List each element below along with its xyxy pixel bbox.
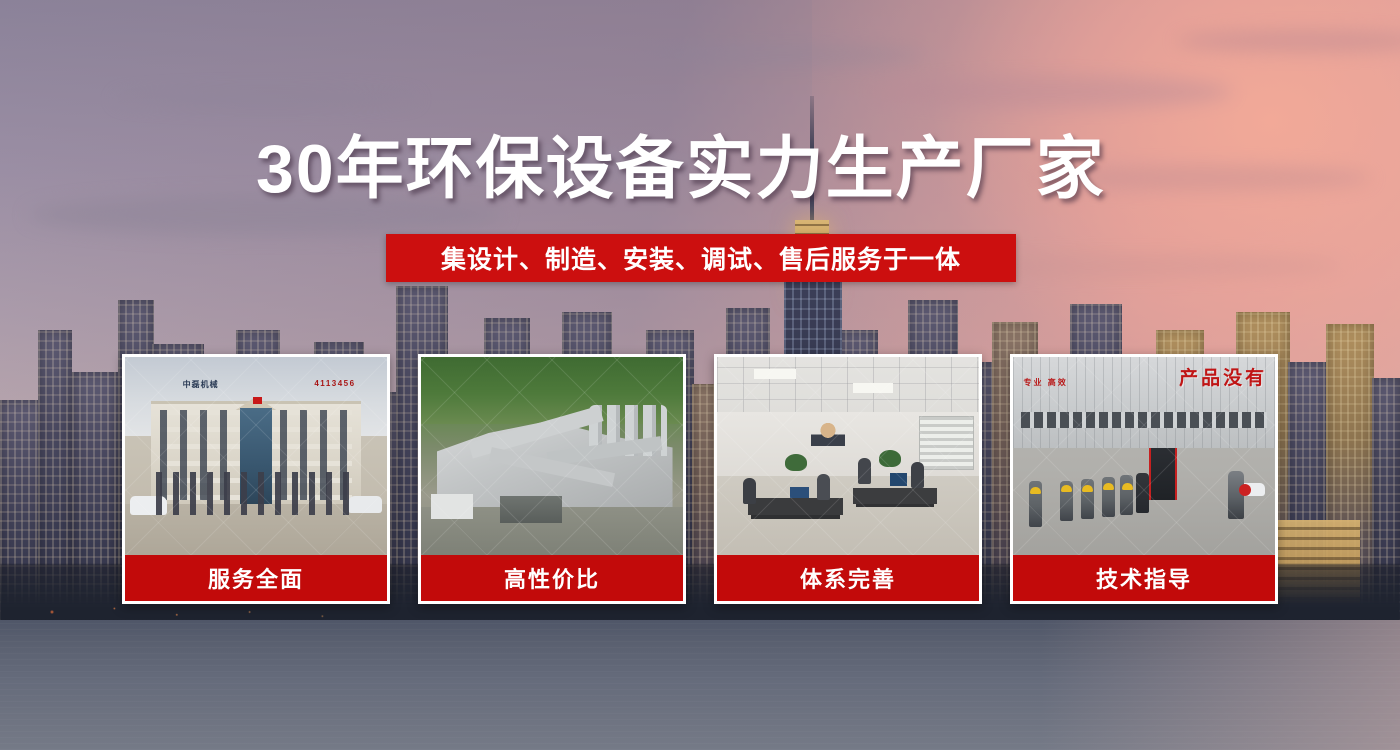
cloud — [644, 45, 924, 65]
factory-slogan-large: 产品没有 — [1179, 363, 1267, 390]
card-photo-industrial-plant — [421, 357, 683, 555]
card-caption: 技术指导 — [1013, 555, 1275, 601]
cloud — [868, 75, 1232, 109]
card-caption: 高性价比 — [421, 555, 683, 601]
river-sheen — [0, 620, 1400, 750]
feature-card-list: 中磊机械 4113456 服务全面 高性价比 — [122, 354, 1278, 604]
page-title: 30年环保设备实力生产厂家 — [256, 134, 1106, 205]
feature-card-guidance[interactable]: 专业 高效 产品没有 技术指导 — [1010, 354, 1278, 604]
subtitle-text: 集设计、制造、安装、调试、售后服务于一体 — [441, 240, 961, 276]
promo-banner: 30年环保设备实力生产厂家 集设计、制造、安装、调试、售后服务于一体 中磊机械 … — [0, 0, 1400, 750]
feature-card-service[interactable]: 中磊机械 4113456 服务全面 — [122, 354, 390, 604]
card-caption: 服务全面 — [125, 555, 387, 601]
card-photo-office-building: 中磊机械 4113456 — [125, 357, 387, 555]
cloud — [112, 90, 420, 108]
card-photo-office-interior — [717, 357, 979, 555]
building-sign-text: 中磊机械 — [183, 379, 219, 390]
card-photo-worker-briefing: 专业 高效 产品没有 — [1013, 357, 1275, 555]
factory-slogan-small: 专业 高效 — [1023, 377, 1067, 388]
card-caption: 体系完善 — [717, 555, 979, 601]
subtitle-bar: 集设计、制造、安装、调试、售后服务于一体 — [386, 234, 1016, 282]
feature-card-system[interactable]: 体系完善 — [714, 354, 982, 604]
building-phone-text: 4113456 — [314, 379, 355, 388]
feature-card-value[interactable]: 高性价比 — [418, 354, 686, 604]
